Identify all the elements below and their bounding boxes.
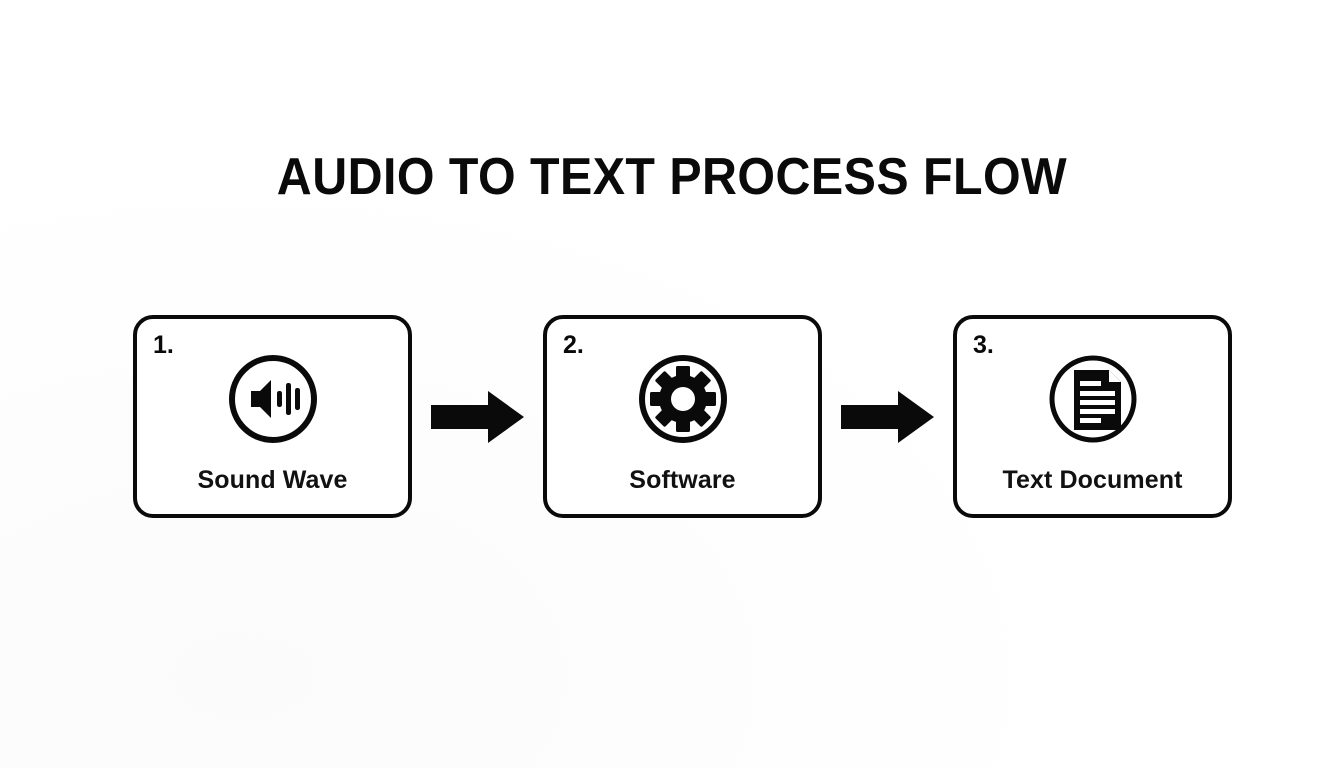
process-flow: 1. Sound Wave 2. <box>133 315 1232 518</box>
step-card-3[interactable]: 3. Text Document <box>953 315 1232 518</box>
arrow-right-icon <box>841 389 934 445</box>
arrow-right-icon <box>431 389 524 445</box>
page-title: AUDIO TO TEXT PROCESS FLOW <box>47 148 1297 206</box>
step-label-2: Software <box>547 465 818 495</box>
step-card-2[interactable]: 2. <box>543 315 822 518</box>
step-label-3: Text Document <box>957 465 1228 495</box>
gear-icon <box>547 351 818 447</box>
step-card-1[interactable]: 1. Sound Wave <box>133 315 412 518</box>
step-label-1: Sound Wave <box>137 465 408 495</box>
sound-wave-icon <box>137 351 408 447</box>
diagram-canvas: AUDIO TO TEXT PROCESS FLOW 1. Sound Wave <box>0 0 1344 768</box>
document-icon <box>957 351 1228 447</box>
